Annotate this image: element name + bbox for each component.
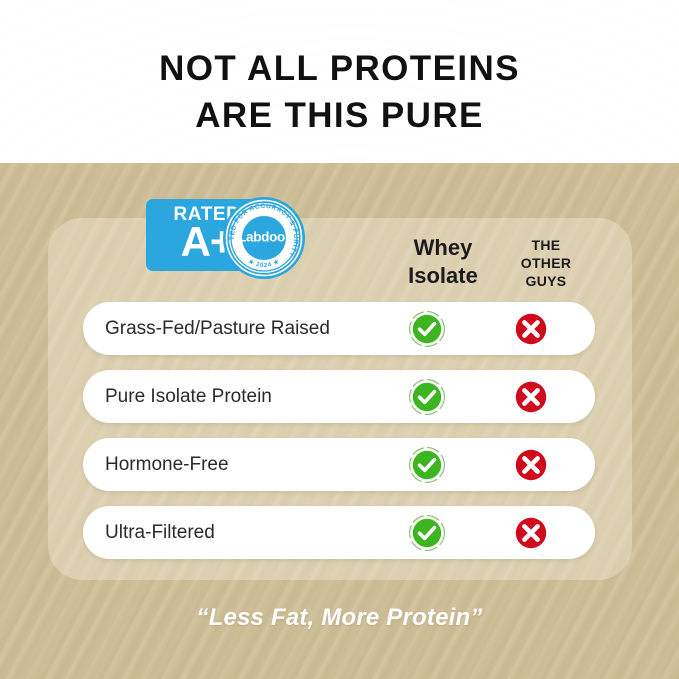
red-x-circle-icon bbox=[512, 514, 550, 552]
column-header-product: Whey Isolate bbox=[390, 234, 496, 289]
red-x-circle-icon bbox=[512, 446, 550, 484]
table-row: Pure Isolate Protein bbox=[83, 370, 595, 423]
green-check-circle-icon bbox=[408, 514, 446, 552]
competitor-header-line-2: OTHER bbox=[500, 254, 592, 272]
page-title: NOT ALL PROTEINS ARE THIS PURE bbox=[0, 46, 679, 139]
competitor-header-line-1: THE bbox=[500, 236, 592, 254]
labdoor-badge: RATED A+ TESTED FOR ACCURACY & PURITY ★ … bbox=[146, 196, 322, 280]
competitor-header-line-3: GUYS bbox=[500, 272, 592, 290]
row-label: Hormone-Free bbox=[105, 438, 229, 491]
headline-line-2: ARE THIS PURE bbox=[0, 93, 679, 140]
row-label: Pure Isolate Protein bbox=[105, 370, 272, 423]
table-row: Hormone-Free bbox=[83, 438, 595, 491]
row-label: Ultra-Filtered bbox=[105, 506, 215, 559]
red-x-circle-icon bbox=[512, 310, 550, 348]
headline-line-1: NOT ALL PROTEINS bbox=[0, 46, 679, 93]
green-check-circle-icon bbox=[408, 310, 446, 348]
red-x-circle-icon bbox=[512, 378, 550, 416]
svg-text:Labdoor: Labdoor bbox=[238, 230, 291, 245]
table-row: Grass-Fed/Pasture Raised bbox=[83, 302, 595, 355]
infographic-canvas: NOT ALL PROTEINS ARE THIS PURE RATED A+ bbox=[0, 0, 679, 679]
table-row: Ultra-Filtered bbox=[83, 506, 595, 559]
product-header-line-1: Whey bbox=[390, 234, 496, 262]
product-header-line-2: Isolate bbox=[390, 262, 496, 290]
row-label: Grass-Fed/Pasture Raised bbox=[105, 302, 330, 355]
column-header-competitor: THE OTHER GUYS bbox=[500, 236, 592, 291]
green-check-circle-icon bbox=[408, 446, 446, 484]
labdoor-seal-icon: TESTED FOR ACCURACY & PURITY ★ 2024 ★ La… bbox=[222, 196, 306, 280]
tagline: “Less Fat, More Protein” bbox=[0, 604, 679, 632]
header-band: NOT ALL PROTEINS ARE THIS PURE bbox=[0, 0, 679, 163]
green-check-circle-icon bbox=[408, 378, 446, 416]
